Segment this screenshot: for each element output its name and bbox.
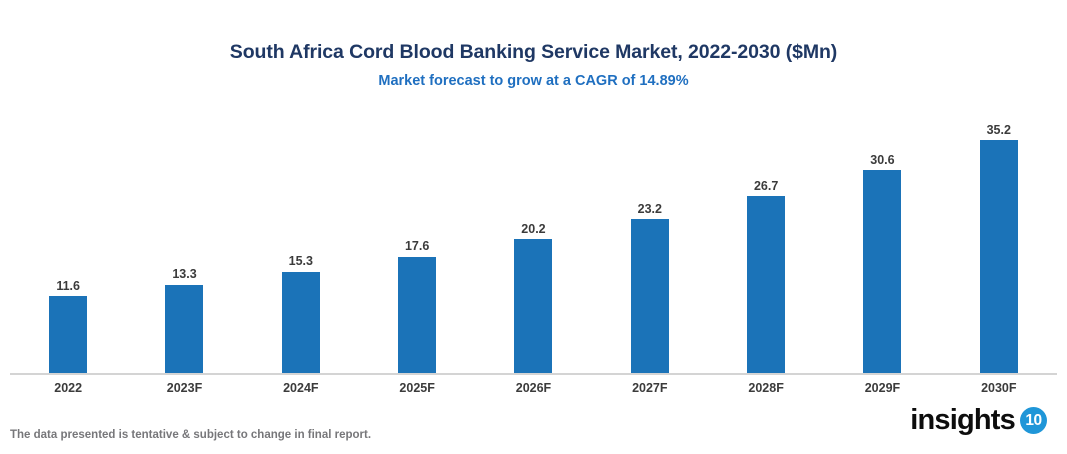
bars-layer: 11.613.315.317.620.223.226.730.635.2 xyxy=(10,120,1057,373)
bar-value-label: 13.3 xyxy=(172,268,196,281)
bar-value-label: 23.2 xyxy=(638,203,662,216)
category-label: 2024F xyxy=(283,381,318,395)
plot-area: 11.613.315.317.620.223.226.730.635.2 xyxy=(10,120,1057,375)
bar[interactable] xyxy=(863,170,901,373)
bar-value-label: 17.6 xyxy=(405,240,429,253)
bar[interactable] xyxy=(631,219,669,373)
title-block: South Africa Cord Blood Banking Service … xyxy=(0,41,1067,91)
category-tick: 2022 xyxy=(10,379,126,397)
brand-wordmark: insights xyxy=(910,406,1015,435)
bar-value-label: 20.2 xyxy=(521,223,545,236)
category-label: 2025F xyxy=(399,381,434,395)
bar-group: 20.2 xyxy=(475,120,591,373)
bar-value-label: 35.2 xyxy=(987,124,1011,137)
bar[interactable] xyxy=(49,296,87,373)
bar-group: 35.2 xyxy=(941,120,1057,373)
category-tick: 2025F xyxy=(359,379,475,397)
category-label: 2029F xyxy=(865,381,900,395)
category-tick: 2027F xyxy=(592,379,708,397)
bar-group: 15.3 xyxy=(243,120,359,373)
category-tick: 2030F xyxy=(941,379,1057,397)
category-tick: 2028F xyxy=(708,379,824,397)
x-axis-line xyxy=(10,373,1057,375)
category-label: 2030F xyxy=(981,381,1016,395)
bar-group: 11.6 xyxy=(10,120,126,373)
bar[interactable] xyxy=(514,239,552,373)
bar[interactable] xyxy=(980,140,1018,373)
footer-disclaimer: The data presented is tentative & subjec… xyxy=(10,430,371,442)
bar-group: 23.2 xyxy=(592,120,708,373)
chart-card: South Africa Cord Blood Banking Service … xyxy=(0,0,1067,454)
bar-group: 13.3 xyxy=(126,120,242,373)
bar[interactable] xyxy=(747,196,785,373)
category-label: 2022 xyxy=(54,381,82,395)
bar-group: 26.7 xyxy=(708,120,824,373)
chart-subtitle: Market forecast to grow at a CAGR of 14.… xyxy=(0,73,1067,90)
category-label: 2023F xyxy=(167,381,202,395)
bar-group: 17.6 xyxy=(359,120,475,373)
bar[interactable] xyxy=(282,272,320,373)
brand-badge-icon: 10 xyxy=(1020,407,1047,434)
bar[interactable] xyxy=(165,285,203,373)
category-label: 2026F xyxy=(516,381,551,395)
insights10-logo: insights 10 xyxy=(910,406,1047,435)
category-axis: 20222023F2024F2025F2026F2027F2028F2029F2… xyxy=(10,379,1057,397)
bar-value-label: 30.6 xyxy=(870,154,894,167)
bar-group: 30.6 xyxy=(824,120,940,373)
bar-value-label: 15.3 xyxy=(289,255,313,268)
bar-value-label: 11.6 xyxy=(56,280,80,293)
category-tick: 2026F xyxy=(475,379,591,397)
category-label: 2027F xyxy=(632,381,667,395)
bar-value-label: 26.7 xyxy=(754,180,778,193)
category-tick: 2029F xyxy=(824,379,940,397)
bar[interactable] xyxy=(398,257,436,374)
category-tick: 2023F xyxy=(126,379,242,397)
category-tick: 2024F xyxy=(243,379,359,397)
chart-title: South Africa Cord Blood Banking Service … xyxy=(0,41,1067,64)
category-label: 2028F xyxy=(748,381,783,395)
